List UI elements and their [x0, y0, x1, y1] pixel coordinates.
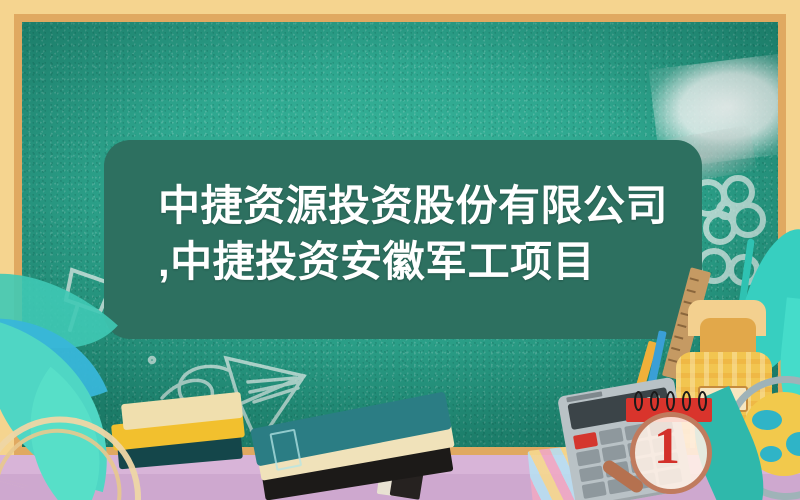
magnified-number: 1 [652, 418, 682, 476]
poster-canvas: 中捷资源投资股份有限公司 ,中捷投资安徽军工项目 Telong School l… [0, 0, 800, 500]
page-title: 中捷资源投资股份有限公司 ,中捷投资安徽军工项目 [158, 178, 678, 290]
